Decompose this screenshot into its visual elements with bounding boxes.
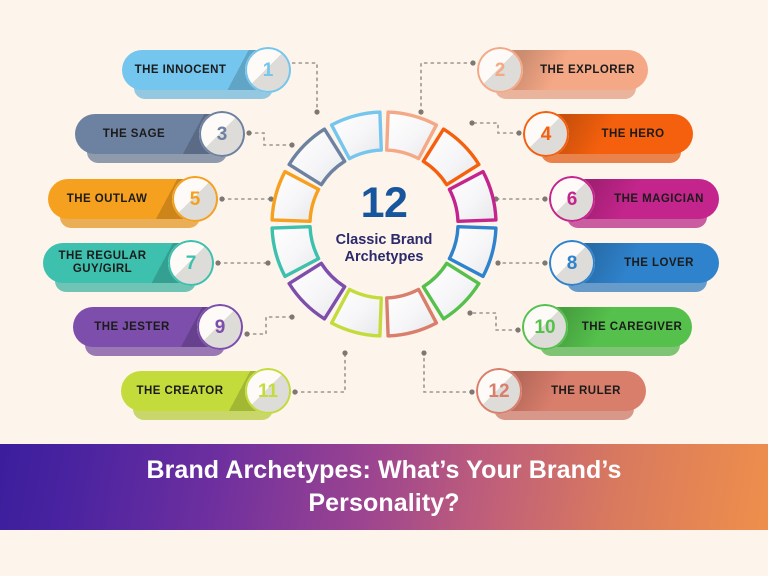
connector-11-endpoint bbox=[292, 389, 297, 394]
connector-9-endpoint bbox=[244, 331, 249, 336]
archetype-pill-12[interactable]: THE RULER12 bbox=[480, 371, 646, 411]
connector-6-endpoint bbox=[542, 196, 547, 201]
badge-number: 11 bbox=[258, 382, 278, 401]
badge-number: 9 bbox=[215, 318, 226, 337]
badge-number: 3 bbox=[217, 125, 228, 144]
connector-11-endpoint bbox=[342, 350, 347, 355]
badge-number: 10 bbox=[534, 318, 555, 337]
archetype-pill-7[interactable]: THE REGULARGUY/GIRL7 bbox=[43, 243, 210, 283]
archetype-pill-11[interactable]: THE CREATOR11 bbox=[121, 371, 287, 411]
archetype-wheel: 12 Classic BrandArchetypes bbox=[264, 104, 504, 344]
pill-number-badge: 1 bbox=[245, 47, 291, 93]
archetype-pill-1[interactable]: THE INNOCENT1 bbox=[122, 50, 287, 90]
pill-label: THE EXPLORER bbox=[529, 50, 646, 90]
pill-label: THE CREATOR bbox=[121, 371, 239, 411]
wheel-count: 12 bbox=[361, 182, 408, 225]
pill-label: THE JESTER bbox=[73, 307, 191, 347]
title-banner: Brand Archetypes: What’s Your Brand’s Pe… bbox=[0, 444, 768, 530]
badge-number: 4 bbox=[541, 125, 552, 144]
connector-5-endpoint bbox=[219, 196, 224, 201]
connector-10-endpoint bbox=[515, 327, 520, 332]
pill-number-badge: 3 bbox=[199, 111, 245, 157]
pill-number-badge: 4 bbox=[523, 111, 569, 157]
connector-2-endpoint bbox=[470, 60, 475, 65]
pill-number-badge: 9 bbox=[197, 304, 243, 350]
connector-7-endpoint bbox=[215, 260, 220, 265]
archetype-pill-9[interactable]: THE JESTER9 bbox=[73, 307, 239, 347]
pill-number-badge: 12 bbox=[476, 368, 522, 414]
banner-title: Brand Archetypes: What’s Your Brand’s Pe… bbox=[74, 454, 694, 520]
pill-number-badge: 2 bbox=[477, 47, 523, 93]
badge-number: 8 bbox=[567, 254, 578, 273]
archetype-pill-4[interactable]: THE HERO4 bbox=[527, 114, 693, 154]
archetype-pill-6[interactable]: THE MAGICIAN6 bbox=[553, 179, 719, 219]
pill-label: THE OUTLAW bbox=[48, 179, 166, 219]
connector-12-endpoint bbox=[421, 350, 426, 355]
connector-12 bbox=[424, 353, 472, 392]
badge-number: 5 bbox=[190, 190, 201, 209]
archetype-pill-5[interactable]: THE OUTLAW5 bbox=[48, 179, 214, 219]
pill-label: THE LOVER bbox=[601, 243, 717, 283]
pill-number-badge: 6 bbox=[549, 176, 595, 222]
pill-label: THE MAGICIAN bbox=[601, 179, 717, 219]
pill-number-badge: 8 bbox=[549, 240, 595, 286]
pill-number-badge: 10 bbox=[522, 304, 568, 350]
pill-label: THE CAREGIVER bbox=[574, 307, 690, 347]
badge-number: 6 bbox=[567, 190, 578, 209]
pill-label: THE RULER bbox=[528, 371, 644, 411]
connector-12-endpoint bbox=[469, 389, 474, 394]
pill-label: THE SAGE bbox=[75, 114, 193, 154]
pill-label: THE REGULARGUY/GIRL bbox=[43, 243, 162, 283]
pill-label: THE INNOCENT bbox=[122, 50, 239, 90]
wheel-caption: Classic BrandArchetypes bbox=[336, 232, 433, 266]
badge-number: 7 bbox=[186, 254, 197, 273]
archetype-pill-3[interactable]: THE SAGE3 bbox=[75, 114, 241, 154]
connector-11 bbox=[295, 353, 345, 392]
infographic-canvas: 12 Classic BrandArchetypes THE INNOCENT1… bbox=[0, 0, 768, 576]
archetype-pill-10[interactable]: THE CAREGIVER10 bbox=[526, 307, 692, 347]
badge-number: 1 bbox=[263, 61, 274, 80]
archetype-pill-2[interactable]: THE EXPLORER2 bbox=[481, 50, 648, 90]
badge-number: 12 bbox=[488, 382, 509, 401]
connector-4-endpoint bbox=[516, 130, 521, 135]
wheel-center-text: 12 Classic BrandArchetypes bbox=[264, 104, 504, 344]
archetype-pill-8[interactable]: THE LOVER8 bbox=[553, 243, 719, 283]
pill-number-badge: 7 bbox=[168, 240, 214, 286]
pill-number-badge: 5 bbox=[172, 176, 218, 222]
pill-number-badge: 11 bbox=[245, 368, 291, 414]
connector-3-endpoint bbox=[246, 130, 251, 135]
pill-label: THE HERO bbox=[575, 114, 691, 154]
connector-8-endpoint bbox=[542, 260, 547, 265]
badge-number: 2 bbox=[495, 61, 506, 80]
